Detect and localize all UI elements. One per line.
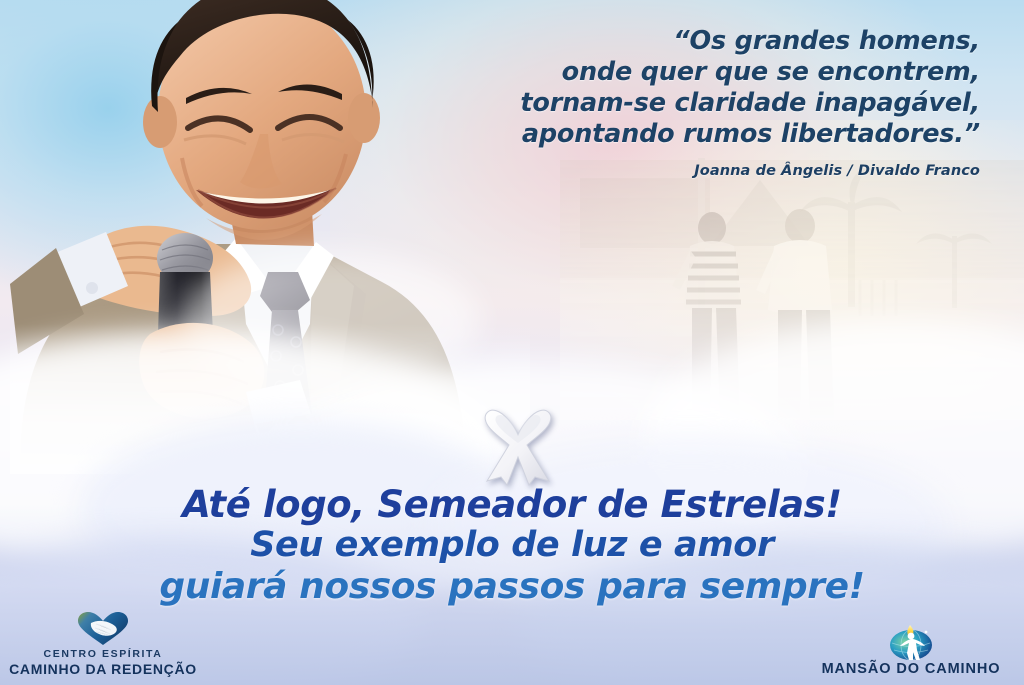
mourning-ribbon-icon	[473, 405, 563, 487]
logo-left-line-2: CAMINHO DA REDENÇÃO	[8, 661, 198, 677]
memorial-poster: “Os grandes homens, onde quer que se enc…	[0, 0, 1024, 685]
globe-figure-flame-icon	[806, 623, 1016, 661]
background-photo	[560, 150, 1024, 420]
quote-line-3: tornam-se claridade inapagável,	[380, 88, 980, 119]
quote-block: “Os grandes homens, onde quer que se enc…	[380, 26, 980, 179]
quote-line-2: onde quer que se encontrem,	[380, 57, 980, 88]
headline-line-2: Seu exemplo de luz e amor	[0, 525, 1024, 566]
quote-attribution: Joanna de Ângelis / Divaldo Franco	[380, 163, 980, 179]
logo-centro-espirita: CENTRO ESPÍRITA CAMINHO DA REDENÇÃO	[8, 610, 198, 677]
quote-line-4: apontando rumos libertadores.”	[380, 119, 980, 150]
headline-line-1: Até logo, Semeador de Estrelas!	[0, 484, 1024, 525]
headline-block: Até logo, Semeador de Estrelas! Seu exem…	[0, 484, 1024, 607]
heart-hands-icon	[8, 610, 198, 648]
logo-mansao-do-caminho: MANSÃO DO CAMINHO	[806, 623, 1016, 677]
portrait-bottom-fade	[10, 324, 530, 474]
logo-left-line-1: CENTRO ESPÍRITA	[8, 648, 198, 661]
headline-line-3: guiará nossos passos para sempre!	[0, 566, 1024, 607]
logo-right-line-2: MANSÃO DO CAMINHO	[806, 661, 1016, 677]
quote-line-1: “Os grandes homens,	[380, 26, 980, 57]
